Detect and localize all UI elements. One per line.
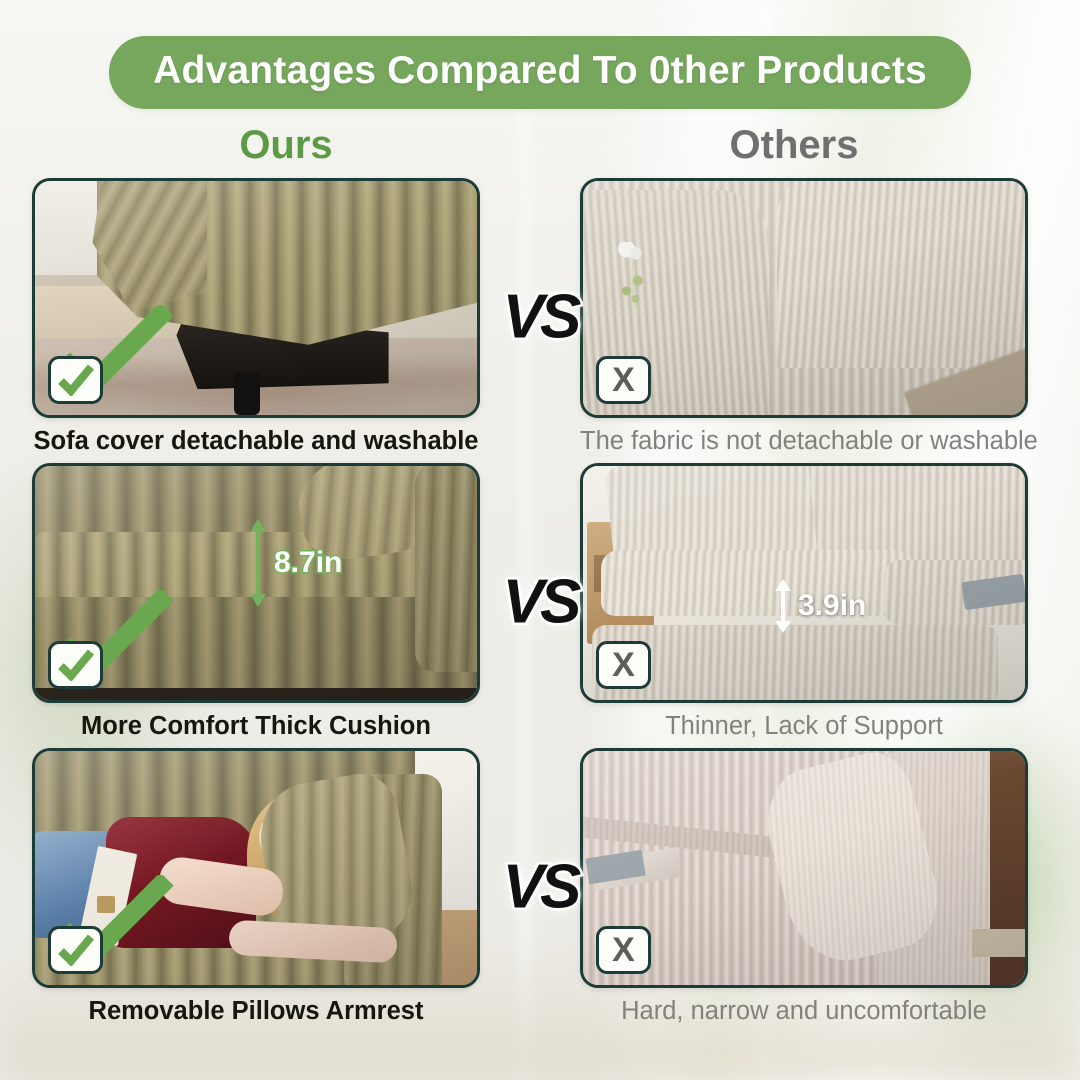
- row-1-ours-cell: Sofa cover detachable and washable: [32, 178, 480, 455]
- comparison-row-3: Removable Pillows Armrest: [32, 748, 1048, 1025]
- double-arrow-icon: [247, 518, 269, 608]
- column-header-ours: Ours: [32, 123, 540, 168]
- double-arrow-icon: [773, 578, 793, 634]
- infographic-page: Advantages Compared To 0ther Products Ou…: [0, 0, 1080, 1080]
- status-badge-x: X: [596, 926, 651, 974]
- check-icon: [58, 649, 94, 681]
- row-1-ours-image-card[interactable]: [32, 178, 480, 418]
- comparison-rows: Sofa cover detachable and washable: [32, 178, 1048, 1025]
- measurement-label-others: 3.9in: [798, 591, 866, 621]
- row-3-ours-caption: Removable Pillows Armrest: [32, 997, 480, 1025]
- row-2-others-cell: 3.9in X Thinner, Lack of Support: [580, 463, 1028, 740]
- status-badge-check: [48, 641, 103, 689]
- row-3-others-image-card[interactable]: X: [580, 748, 1028, 988]
- row-3-ours-cell: Removable Pillows Armrest: [32, 748, 480, 1025]
- x-icon: X: [612, 933, 635, 967]
- row-1-others-cell: X The fabric is not detachable or washab…: [580, 178, 1028, 455]
- comparison-row-1: Sofa cover detachable and washable: [32, 178, 1048, 455]
- vs-badge-row-2: VS: [503, 566, 578, 637]
- column-header-others: Others: [540, 123, 1048, 168]
- row-2-others-caption: Thinner, Lack of Support: [580, 712, 1028, 740]
- status-badge-x: X: [596, 356, 651, 404]
- measurement-annotation-others: 3.9in: [773, 578, 866, 634]
- vs-badge-row-1: VS: [503, 281, 578, 352]
- x-icon: X: [612, 363, 635, 397]
- banner-row: Advantages Compared To 0ther Products: [32, 0, 1048, 109]
- row-3-ours-image-card[interactable]: [32, 748, 480, 988]
- row-1-ours-caption: Sofa cover detachable and washable: [32, 427, 480, 455]
- x-icon: X: [612, 648, 635, 682]
- row-2-ours-image-card[interactable]: 8.7in: [32, 463, 480, 703]
- measurement-label-ours: 8.7in: [274, 548, 342, 578]
- status-badge-x: X: [596, 641, 651, 689]
- status-badge-check: [48, 926, 103, 974]
- row-3-others-cell: X Hard, narrow and uncomfortable: [580, 748, 1028, 1025]
- row-2-others-image-card[interactable]: 3.9in X: [580, 463, 1028, 703]
- status-badge-check: [48, 356, 103, 404]
- comparison-row-2: 8.7in More Comfort Thick Cushion: [32, 463, 1048, 740]
- row-2-ours-caption: More Comfort Thick Cushion: [32, 712, 480, 740]
- check-icon: [58, 934, 94, 966]
- vs-badge-row-3: VS: [503, 851, 578, 922]
- row-2-ours-cell: 8.7in More Comfort Thick Cushion: [32, 463, 480, 740]
- column-headers: Ours Others: [32, 123, 1048, 168]
- measurement-annotation-ours: 8.7in: [247, 518, 342, 608]
- row-1-others-caption: The fabric is not detachable or washable: [580, 427, 1028, 455]
- row-1-others-image-card[interactable]: X: [580, 178, 1028, 418]
- page-title-banner: Advantages Compared To 0ther Products: [109, 36, 971, 109]
- check-icon: [58, 364, 94, 396]
- row-3-others-caption: Hard, narrow and uncomfortable: [580, 997, 1028, 1025]
